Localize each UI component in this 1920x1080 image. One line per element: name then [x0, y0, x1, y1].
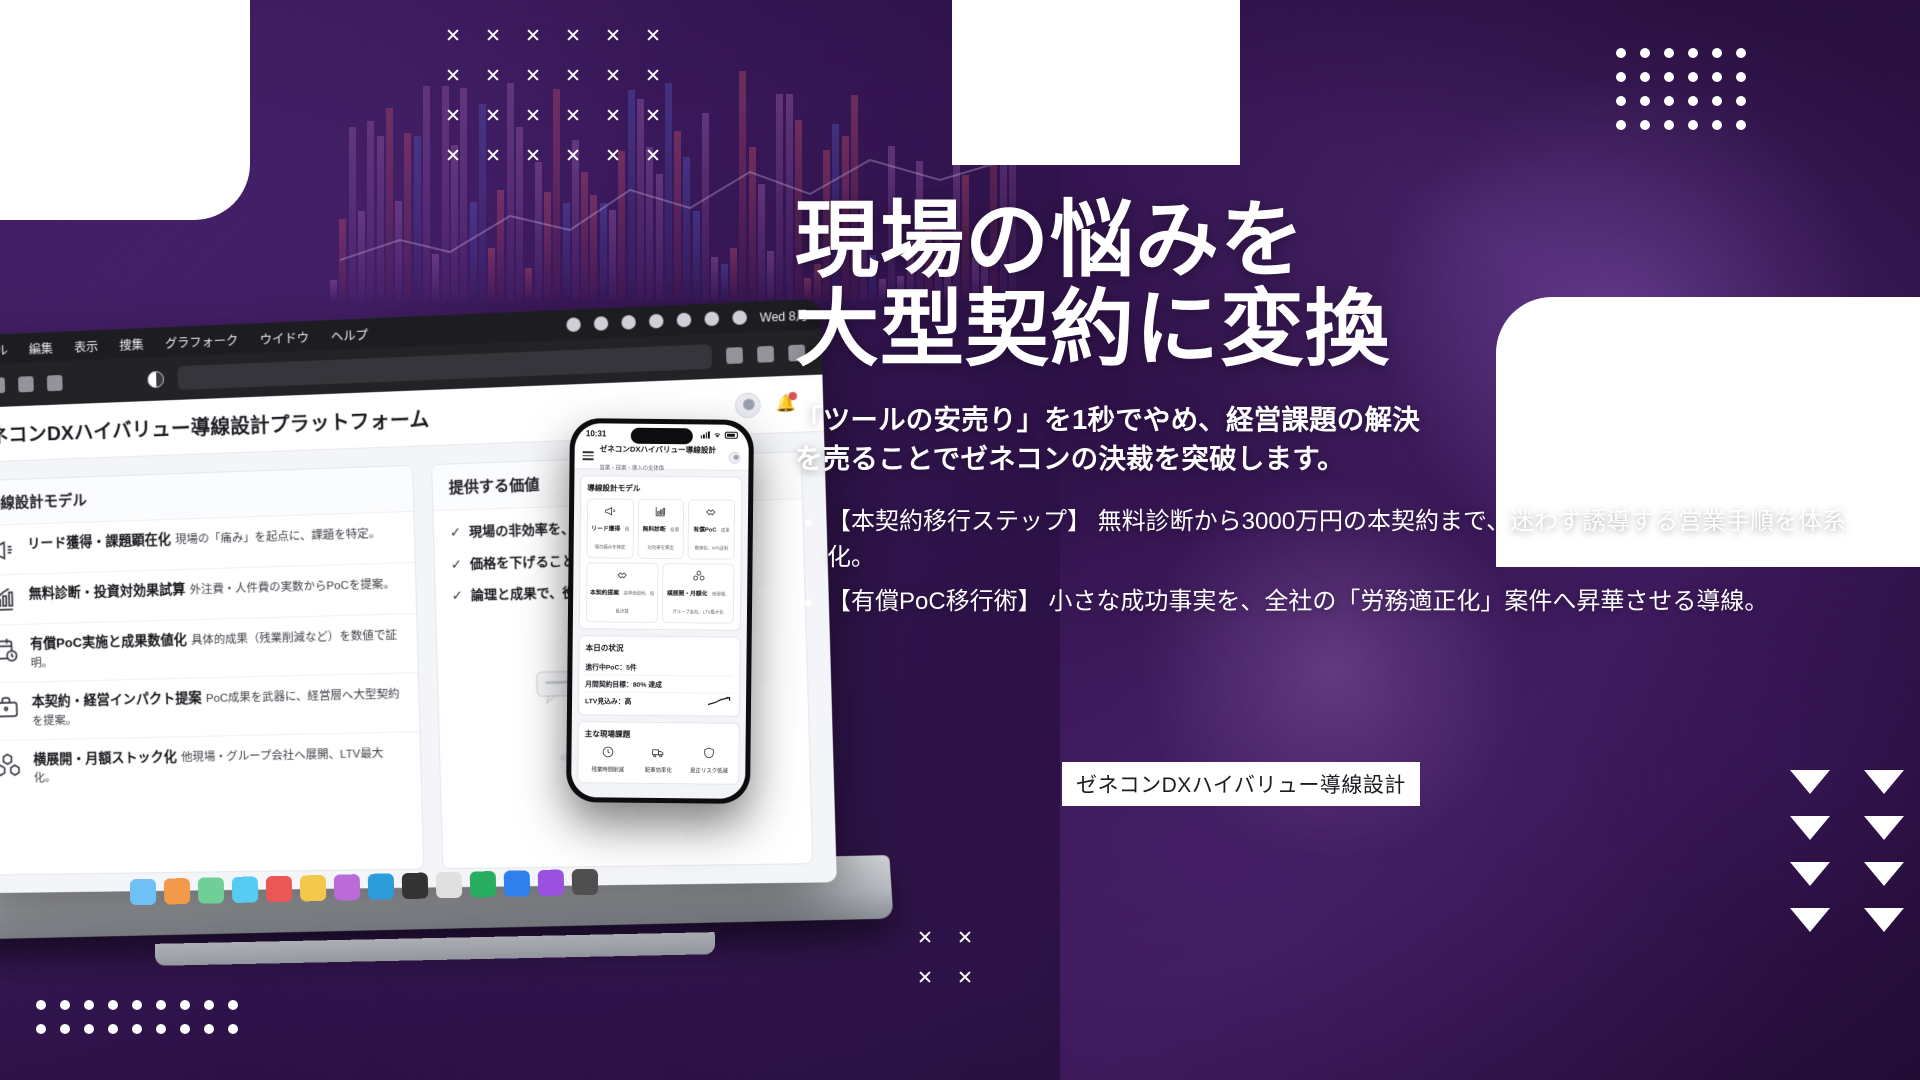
tile-name: リード獲得 — [591, 526, 620, 532]
reader-mode-icon[interactable] — [147, 370, 164, 387]
hero-subtitle-line-2: を売ることでゼネコンの決裁を突破します。 — [795, 443, 1345, 474]
menu-item-file[interactable]: ファイル — [0, 339, 8, 360]
menu-item-window[interactable]: ウイドウ — [260, 326, 310, 347]
kpi-row: LTV見込み：高 — [585, 692, 733, 710]
deco-shape-top-left — [0, 0, 250, 220]
list-item: 【有償PoC移行術】 小さな成功事実を、全社の「労務適正化」案件へ昇華させる導線… — [795, 584, 1885, 620]
list-item[interactable]: 本契約提案 高単価契約、役員決裁 — [586, 562, 659, 623]
tile-name: 無料診断 — [643, 527, 666, 533]
kpi-label: 月間契約目標：80% 達成 — [585, 678, 662, 689]
issue-name: 配車効率化 — [645, 768, 672, 774]
deco-shape-top — [952, 0, 1240, 165]
wifi-icon[interactable] — [676, 313, 691, 328]
issue-name: 残業時間削減 — [591, 767, 623, 773]
kpi-row: 月間契約目標：80% 達成 — [585, 675, 733, 694]
phone-issue-grid: 残業時間削減 配車効率化 是正リスク低減 — [584, 744, 732, 778]
table-row[interactable]: 横展開・月額ストック化 他現場・グループ会社へ展開、LTV最大化。 — [0, 732, 421, 798]
boxes-icon — [0, 750, 22, 780]
avatar[interactable] — [729, 451, 741, 463]
deco-dot-grid-top-right — [1616, 48, 1746, 130]
handshake-icon — [691, 504, 732, 518]
menu-bar-status-icons[interactable]: Wed 8月 — [566, 306, 809, 334]
phone-card-flow-model: 導線設計モデル リード獲得 現場の痛みを特定 無料診断 投資対効果を算出 — [579, 475, 743, 631]
truck-icon — [635, 745, 682, 759]
list-item[interactable]: 残業時間削減 — [584, 744, 631, 776]
phone-clock: 10:31 — [586, 429, 607, 438]
kpi-label: LTV見込み：高 — [585, 695, 631, 705]
list-item[interactable]: リード獲得 現場の痛みを特定 — [587, 498, 634, 558]
phone-app-header: ゼネコンDXハイバリュー導線設計 営業・提案・導入の全体像 — [574, 443, 748, 471]
shield-icon — [686, 745, 733, 759]
phone-tile-grid-secondary: 本契約提案 高単価契約、役員決裁 横展開・月額化 他現場、グループ会社、LTV最… — [586, 562, 735, 624]
bar-chart-icon — [0, 585, 18, 615]
kpi-row: 進行中PoC：5件 — [585, 658, 733, 677]
phone-tile-grid: リード獲得 現場の痛みを特定 無料診断 投資対効果を算出 有償PoC 成果数値化… — [587, 498, 736, 560]
phone-card-site-issues: 主な現場課題 残業時間削減 配車効率化 是正リスク低減 — [577, 721, 740, 785]
row-title: 横展開・月額ストック化 — [33, 749, 177, 767]
hero-bullet-list: 【本契約移行ステップ】 無料診断から3000万円の本契約まで、迷わず誘導する営業… — [795, 504, 1885, 620]
check-icon: ✓ — [451, 554, 462, 574]
clock-icon — [584, 744, 631, 758]
menu-item-help[interactable]: ヘルプ — [331, 324, 369, 345]
phone-mockup: 10:31 ゼネコンDXハイバリュー導線設計 営業・提案・導入の全体像 導線設計… — [566, 418, 754, 804]
phone-app-subtitle: 営業・提案・導入の全体像 — [599, 465, 664, 472]
deco-x-grid-top — [446, 28, 660, 162]
check-icon: ✓ — [452, 586, 463, 606]
hamburger-menu-icon[interactable] — [583, 452, 594, 460]
back-arrow-icon[interactable] — [18, 376, 34, 392]
phone-screen: 10:31 ゼネコンDXハイバリュー導線設計 営業・提案・導入の全体像 導線設計… — [571, 423, 749, 799]
list-item[interactable]: 横展開・月額化 他現場、グループ会社、LTV最大化 — [662, 563, 735, 624]
check-icon: ✓ — [450, 522, 461, 542]
menu-item-view[interactable]: 表示 — [74, 336, 99, 356]
list-item[interactable]: 是正リスク低減 — [686, 745, 733, 777]
hero-text-block: 現場の悩みを 大型契約に変換 「ツールの安売り」を1秒でやめ、経営課題の解決 を… — [795, 196, 1885, 628]
avatar[interactable] — [735, 392, 762, 418]
trend-up-icon — [707, 696, 733, 706]
deco-x-grid-bottom — [918, 930, 972, 984]
new-tab-icon[interactable] — [757, 346, 774, 363]
kpi-label: 進行中PoC：5件 — [585, 661, 636, 672]
megaphone-icon — [590, 503, 631, 517]
menu-item-edit[interactable]: 編集 — [29, 337, 54, 357]
phone-card-header: 導線設計モデル — [587, 482, 735, 495]
battery-icon — [725, 431, 738, 438]
signal-icon — [700, 431, 709, 438]
phone-card-header: 本日の状況 — [586, 642, 734, 655]
phone-app-title: ゼネコンDXハイバリュー導線設計 — [600, 444, 716, 454]
phone-card-today-status: 本日の状況 進行中PoC：5件 月間契約目標：80% 達成 LTV見込み：高 — [578, 635, 741, 717]
row-desc: 外注費・人件費の実数からPoCを提案。 — [190, 578, 396, 597]
issue-name: 是正リスク低減 — [690, 768, 728, 774]
tile-desc: 高単価契約、役員決裁 — [615, 591, 654, 614]
handshake-icon — [589, 567, 655, 582]
record-icon[interactable] — [566, 317, 581, 332]
table-row[interactable]: 本契約・経営インパクト提案 PoC成果を武器に、経営層へ大型契約を提案。 — [0, 673, 420, 741]
forward-arrow-icon[interactable] — [47, 375, 63, 391]
tile-name: 本契約提案 — [590, 590, 619, 596]
share-icon[interactable] — [726, 347, 743, 364]
page-title: 現場の悩みを 大型契約に変換 — [795, 196, 1885, 374]
control-center-icon[interactable] — [732, 310, 747, 325]
search-icon[interactable] — [704, 311, 719, 326]
list-item: 【本契約移行ステップ】 無料診断から3000万円の本契約まで、迷わず誘導する営業… — [795, 504, 1885, 576]
hero-subtitle: 「ツールの安売り」を1秒でやめ、経営課題の解決 を売ることでゼネコンの決裁を突破… — [795, 400, 1885, 478]
hero-title-line-1: 現場の悩みを — [795, 193, 1305, 287]
laptop-foot — [155, 932, 715, 966]
screenshare-icon[interactable] — [593, 316, 608, 331]
deco-triangle-grid — [1790, 770, 1904, 932]
battery-icon[interactable] — [648, 314, 663, 329]
phone-body[interactable]: 導線設計モデル リード獲得 現場の痛みを特定 無料診断 投資対効果を算出 — [571, 469, 748, 799]
card-flow-model: 導線設計モデル リード獲得・課題顕在化 現場の「痛み」を起点に、課題を特定。 — [0, 465, 424, 876]
list-item[interactable]: 無料診断 投資対効果を算出 — [637, 499, 684, 559]
tile-name: 横展開・月額化 — [667, 591, 708, 597]
row-title: 有償PoC実施と成果数値化 — [30, 632, 187, 651]
bar-chart-icon — [641, 504, 682, 518]
calendar-clock-icon — [0, 635, 19, 665]
row-desc: 現場の「痛み」を起点に、課題を特定。 — [175, 527, 380, 546]
menu-item-collect[interactable]: 捜集 — [119, 334, 144, 354]
boxes-icon — [665, 568, 731, 583]
row-title: 無料診断・投資対効果試算 — [29, 582, 186, 601]
menu-item-graphwork[interactable]: グラフォーク — [165, 329, 239, 351]
row-title: 本契約・経営インパクト提案 — [32, 690, 202, 709]
brand-badge: ゼネコンDXハイバリュー導線設計 — [1062, 762, 1420, 806]
deco-dot-grid-bottom-left — [36, 1000, 238, 1034]
tile-name: 有償PoC — [693, 527, 716, 533]
phone-card-header: 主な現場課題 — [585, 728, 733, 741]
megaphone-icon — [0, 535, 16, 565]
poster-canvas: ファイル 編集 表示 捜集 グラフォーク ウイドウ ヘルプ Wed 8月 — [0, 0, 1920, 1080]
phone-status-icons — [700, 431, 737, 438]
table-row[interactable]: 有償PoC実施と成果数値化 具体的成果（残業削減など）を数値で証明。 — [0, 614, 418, 684]
list-item[interactable]: 配車効率化 — [635, 745, 682, 777]
row-title: リード獲得・課題顕在化 — [27, 532, 171, 551]
briefcase-icon — [0, 693, 21, 723]
chevron-down-icon[interactable] — [0, 377, 5, 393]
hero-title-line-2: 大型契約に変換 — [795, 282, 1390, 376]
hero-subtitle-line-1: 「ツールの安売り」を1秒でやめ、経営課題の解決 — [795, 404, 1420, 435]
phone-notch — [631, 428, 693, 445]
list-item[interactable]: 有償PoC 成果数値化、KPI証明 — [688, 499, 735, 559]
bluetooth-icon[interactable] — [621, 315, 636, 330]
wifi-icon — [713, 431, 722, 438]
